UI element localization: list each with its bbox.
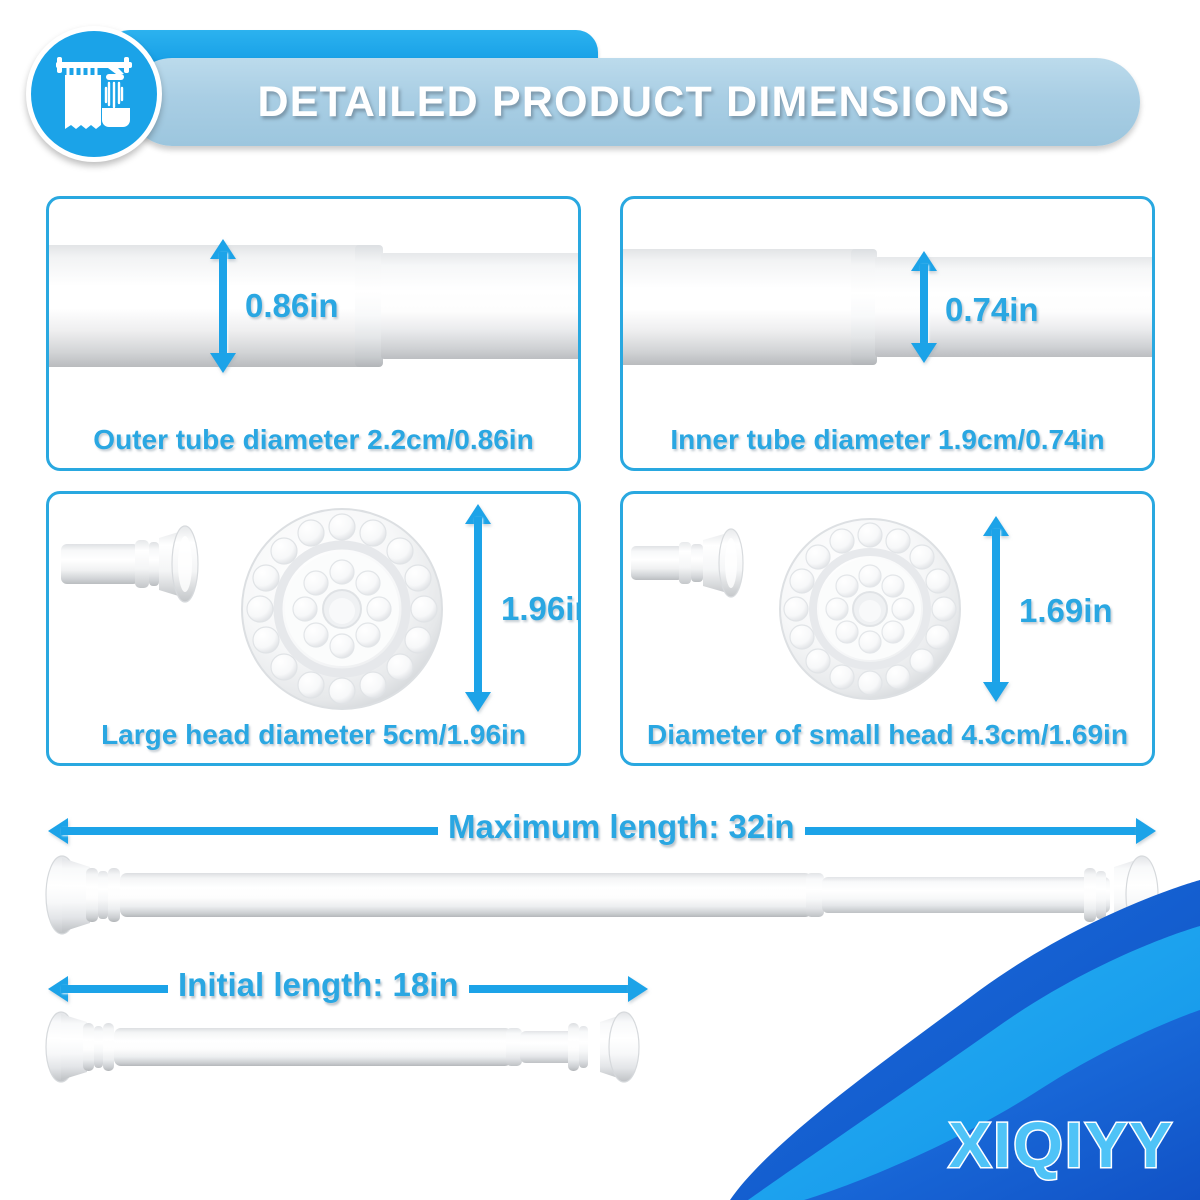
dimension-arrow-vertical (210, 239, 236, 373)
arrow-head-down (911, 343, 937, 363)
arrow-shaft (992, 529, 1000, 689)
panel-caption: Outer tube diameter 2.2cm/0.86in (49, 424, 578, 456)
panel-inner-tube: 0.74in Inner tube diameter 1.9cm/0.74in (620, 196, 1155, 471)
panel-outer-tube: 0.86in Outer tube diameter 2.2cm/0.86in (46, 196, 581, 471)
dimension-value: 0.74in (945, 291, 1039, 329)
brand-wordmark: XIQIYY (949, 1108, 1174, 1182)
arrow-head-down (465, 692, 491, 712)
arrow-head-right (1136, 818, 1156, 844)
arrow-head-down (983, 682, 1009, 702)
maximum-length-row: Maximum length: 32in (0, 796, 1200, 946)
header-banner: DETAILED PRODUCT DIMENSIONS (0, 0, 1200, 180)
inner-tube-graphic (381, 253, 581, 359)
arrow-shaft (474, 517, 482, 699)
shower-curtain-icon (26, 26, 162, 162)
panel-small-head: 1.69in Diameter of small head 4.3cm/1.69… (620, 491, 1155, 766)
rod-stub-graphic (61, 516, 231, 626)
banner-body: DETAILED PRODUCT DIMENSIONS (128, 58, 1140, 146)
dimension-value: 1.96in (501, 590, 581, 628)
dimension-arrow-vertical (911, 251, 937, 363)
dimension-value: 1.69in (1019, 592, 1113, 630)
tube-collar-graphic (851, 249, 877, 365)
head-disc-large-graphic (237, 504, 447, 714)
dimension-arrow-vertical (465, 504, 491, 712)
dimension-value: 0.86in (245, 287, 339, 325)
rod-stub-graphic (631, 520, 781, 616)
rod-extended-graphic (44, 854, 1160, 936)
initial-length-label: Initial length: 18in (168, 966, 469, 1004)
arrow-head-right (628, 976, 648, 1002)
arrow-head-down (210, 353, 236, 373)
initial-length-row: Initial length: 18in (0, 958, 1200, 1088)
dimension-arrow-vertical (983, 516, 1009, 702)
arrow-shaft (920, 264, 928, 350)
head-disc-small-graphic (775, 514, 965, 704)
panel-caption: Diameter of small head 4.3cm/1.69in (623, 719, 1152, 751)
maximum-length-label: Maximum length: 32in (438, 808, 805, 846)
panel-large-head: 1.96in Large head diameter 5cm/1.96in (46, 491, 581, 766)
panel-caption: Large head diameter 5cm/1.96in (49, 719, 578, 751)
page-title: DETAILED PRODUCT DIMENSIONS (257, 78, 1010, 127)
rod-retracted-graphic (44, 1010, 664, 1084)
tube-collar-graphic (355, 245, 383, 367)
arrow-shaft (219, 252, 227, 360)
outer-tube-graphic (620, 249, 857, 365)
panel-caption: Inner tube diameter 1.9cm/0.74in (623, 424, 1152, 456)
